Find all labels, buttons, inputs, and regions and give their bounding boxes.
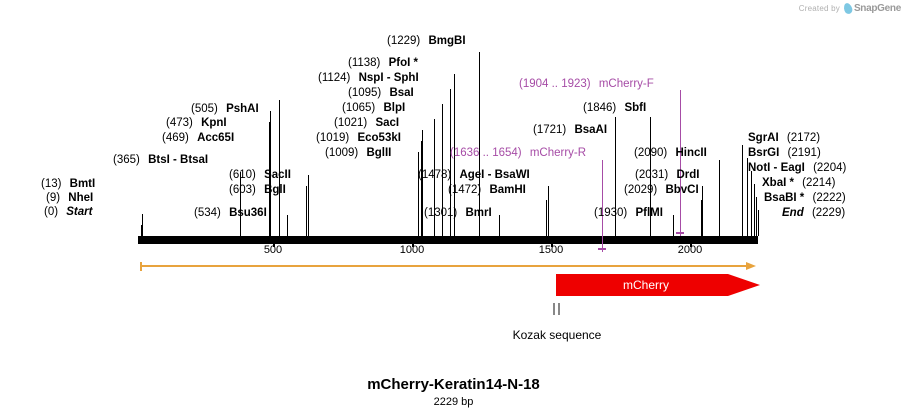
snapgene-drop-icon — [842, 2, 853, 15]
site-end-pos: (2229) — [812, 207, 845, 219]
site-sacii[interactable]: (610) SacII — [229, 169, 291, 181]
leader-bsabi — [756, 197, 757, 236]
plasmid-length: 2229 bp — [0, 396, 907, 408]
snapgene-credit: Created by SnapGene — [799, 3, 901, 14]
site-acc65i-name: Acc65I — [197, 132, 234, 144]
site-bmgbi[interactable]: (1229) BmgBI — [387, 35, 466, 47]
site-bsai[interactable]: (1095) BsaI — [348, 87, 414, 99]
site-hincii-name: HincII — [675, 147, 706, 159]
leader-bglii — [418, 152, 419, 236]
site-bglii-name: BglII — [366, 147, 391, 159]
primer-mcherry-f[interactable]: (1904 .. 1923) mCherry-F — [519, 78, 654, 90]
site-bsabi-name: BsaBI * — [764, 192, 804, 204]
site-xbai[interactable]: XbaI * (2214) — [762, 177, 835, 189]
site-agei-name: AgeI - BsaWI — [459, 169, 529, 181]
mcherry-feature-label: mCherry — [556, 274, 736, 296]
leader-mcherry-r — [602, 160, 603, 252]
leader-bmti — [142, 214, 143, 236]
site-acc65i[interactable]: (469) Acc65I — [162, 132, 234, 144]
site-pflmi[interactable]: (1930) PflMI — [594, 207, 663, 219]
site-nhei-pos: (9) — [46, 192, 60, 204]
site-pfoi[interactable]: (1138) PfoI * — [348, 57, 418, 69]
site-drdi-pos: (2031) — [635, 169, 668, 181]
site-pshai-pos: (505) — [191, 103, 218, 115]
site-bsaai-name: BsaAI — [574, 124, 607, 136]
site-bsrgi-pos: (2191) — [788, 147, 821, 159]
site-saci[interactable]: (1021) SacI — [334, 117, 399, 129]
site-nspi-pos: (1124) — [318, 72, 350, 84]
leader-bamhi — [546, 200, 547, 236]
site-sacii-pos: (610) — [229, 169, 256, 181]
site-nspi[interactable]: (1124) NspI - SphI — [318, 72, 419, 84]
site-acc65i-pos: (469) — [162, 132, 189, 144]
site-bmti-pos: (13) — [41, 178, 61, 190]
site-noti-pos: (2204) — [813, 162, 846, 174]
site-bsrgi[interactable]: BsrGI (2191) — [748, 147, 821, 159]
leader-xbai — [754, 184, 755, 236]
site-pflmi-pos: (1930) — [594, 207, 627, 219]
site-bsu36i-pos: (534) — [194, 207, 221, 219]
site-kpni-pos: (473) — [166, 117, 193, 129]
site-bbvci-name: BbvCI — [665, 184, 698, 196]
site-eco53ki-pos: (1019) — [316, 132, 349, 144]
site-bsaai-pos: (1721) — [533, 124, 566, 136]
leader-pflmi — [673, 215, 674, 236]
axis-label-2000: 2000 — [667, 244, 713, 256]
site-hincii[interactable]: (2090) HincII — [634, 147, 707, 159]
site-end-name: End — [782, 207, 804, 219]
site-bmgbi-name: BmgBI — [428, 35, 465, 47]
site-bamhi[interactable]: (1472) BamHI — [448, 184, 526, 196]
site-sbfi[interactable]: (1846) SbfI — [583, 102, 646, 114]
site-xbai-pos: (2214) — [802, 177, 835, 189]
leader-sacii — [308, 175, 309, 236]
leader-mcherry-f — [680, 90, 681, 236]
plasmid-map: Created by SnapGene 500 1000 1500 2000 — [0, 0, 907, 418]
site-bamhi-pos: (1472) — [448, 184, 481, 196]
site-bmri[interactable]: (1301) BmrI — [424, 207, 492, 219]
site-bgli[interactable]: (603) BglI — [229, 184, 286, 196]
leader-drdi — [702, 186, 703, 236]
orf-span-arrow — [140, 262, 756, 271]
primer-mcherry-r-range: (1636 .. 1654) — [450, 147, 522, 159]
backbone-bottom-rule — [138, 240, 758, 242]
site-bsaai[interactable]: (1721) BsaAI — [533, 124, 607, 136]
site-pflmi-name: PflMI — [635, 207, 662, 219]
site-start-pos: (0) — [44, 206, 58, 218]
site-pfoi-name: PfoI * — [389, 57, 418, 69]
site-pfoi-pos: (1138) — [348, 57, 380, 69]
site-eco53ki[interactable]: (1019) Eco53kI — [316, 132, 401, 144]
leader-bmri — [499, 215, 500, 236]
primer-f-tick — [676, 232, 684, 234]
site-eco53ki-name: Eco53kI — [357, 132, 400, 144]
site-nspi-name: NspI - SphI — [359, 72, 419, 84]
site-noti-name: NotI - EagI — [748, 162, 805, 174]
leader-pshai — [279, 100, 280, 236]
site-pshai-name: PshAI — [226, 103, 259, 115]
site-bmgbi-pos: (1229) — [387, 35, 420, 47]
site-kpni[interactable]: (473) KpnI — [166, 117, 227, 129]
site-saci-pos: (1021) — [334, 117, 367, 129]
site-sacii-name: SacII — [264, 169, 291, 181]
site-agei[interactable]: (1478) AgeI - BsaWI — [418, 169, 530, 181]
primer-mcherry-f-range: (1904 .. 1923) — [519, 78, 591, 90]
sequence-backbone — [138, 236, 758, 244]
kozak-sequence-label: Kozak sequence — [487, 328, 627, 342]
leader-btsi — [240, 172, 241, 236]
site-start-name: Start — [66, 206, 92, 218]
site-blpi-pos: (1065) — [342, 102, 375, 114]
site-xbai-name: XbaI * — [762, 177, 794, 189]
site-nhei[interactable]: (9) NheI — [46, 192, 93, 204]
leader-noti — [751, 171, 752, 236]
primer-mcherry-r-name: mCherry-R — [530, 147, 586, 159]
site-bsu36i[interactable]: (534) Bsu36I — [194, 207, 267, 219]
orf-arrow-shaft — [140, 265, 746, 267]
axis-label-1000: 1000 — [389, 244, 435, 256]
site-nhei-name: NheI — [68, 192, 93, 204]
axis-label-500: 500 — [250, 244, 296, 256]
site-bmti[interactable]: (13) BmtI — [41, 178, 95, 190]
site-btsi[interactable]: (365) BtsI - BtsaI — [113, 154, 208, 166]
orf-arrow-head — [746, 262, 756, 270]
site-end[interactable]: End (2229) — [782, 207, 845, 219]
site-sbfi-pos: (1846) — [583, 102, 616, 114]
site-hincii-pos: (2090) — [634, 147, 667, 159]
site-drdi[interactable]: (2031) DrdI — [635, 169, 699, 181]
site-bsabi[interactable]: BsaBI * (2222) — [764, 192, 846, 204]
mcherry-feature-arrow[interactable]: mCherry — [556, 274, 760, 296]
site-blpi-name: BlpI — [383, 102, 405, 114]
site-bamhi-name: BamHI — [489, 184, 525, 196]
site-saci-name: SacI — [375, 117, 399, 129]
created-by-label: Created by — [799, 4, 840, 13]
site-bglii-pos: (1009) — [325, 147, 358, 159]
leader-end — [758, 210, 759, 236]
site-bglii[interactable]: (1009) BglII — [325, 147, 391, 159]
site-bmti-name: BmtI — [70, 178, 96, 190]
site-blpi[interactable]: (1065) BlpI — [342, 102, 405, 114]
site-bbvci[interactable]: (2029) BbvCI — [624, 184, 699, 196]
site-start[interactable]: (0) Start — [44, 206, 92, 218]
leader-agei — [548, 186, 549, 236]
snapgene-logo: SnapGene — [844, 3, 901, 14]
primer-r-tick — [598, 248, 606, 250]
site-sgrai[interactable]: SgrAI (2172) — [748, 132, 820, 144]
leader-sgrai — [742, 145, 743, 236]
site-bsrgi-name: BsrGI — [748, 147, 779, 159]
site-agei-pos: (1478) — [418, 169, 451, 181]
site-bsai-pos: (1095) — [348, 87, 381, 99]
site-bsu36i-name: Bsu36I — [229, 207, 267, 219]
site-bmri-pos: (1301) — [424, 207, 457, 219]
leader-hincii — [719, 160, 720, 236]
primer-mcherry-r[interactable]: (1636 .. 1654) mCherry-R — [450, 147, 586, 159]
site-pshai[interactable]: (505) PshAI — [191, 103, 259, 115]
site-sgrai-pos: (2172) — [787, 132, 820, 144]
site-kpni-name: KpnI — [201, 117, 227, 129]
site-bmri-name: BmrI — [465, 207, 491, 219]
site-drdi-name: DrdI — [676, 169, 699, 181]
leader-bsu36i — [287, 215, 288, 236]
site-bgli-pos: (603) — [229, 184, 256, 196]
site-noti[interactable]: NotI - EagI (2204) — [748, 162, 846, 174]
site-bsabi-pos: (2222) — [812, 192, 845, 204]
site-bgli-name: BglI — [264, 184, 286, 196]
page-title: mCherry-Keratin14-N-18 — [0, 376, 907, 393]
leader-saci — [422, 130, 423, 236]
site-sgrai-name: SgrAI — [748, 132, 779, 144]
primer-mcherry-f-name: mCherry-F — [599, 78, 654, 90]
site-bsai-name: BsaI — [389, 87, 413, 99]
site-sbfi-name: SbfI — [624, 102, 646, 114]
kozak-sequence-marker[interactable] — [553, 303, 560, 315]
site-bbvci-pos: (2029) — [624, 184, 657, 196]
leader-bgli — [306, 186, 307, 236]
site-btsi-name: BtsI - BtsaI — [148, 154, 208, 166]
snapgene-wordmark: SnapGene — [854, 3, 901, 14]
axis-label-1500: 1500 — [528, 244, 574, 256]
site-btsi-pos: (365) — [113, 154, 140, 166]
